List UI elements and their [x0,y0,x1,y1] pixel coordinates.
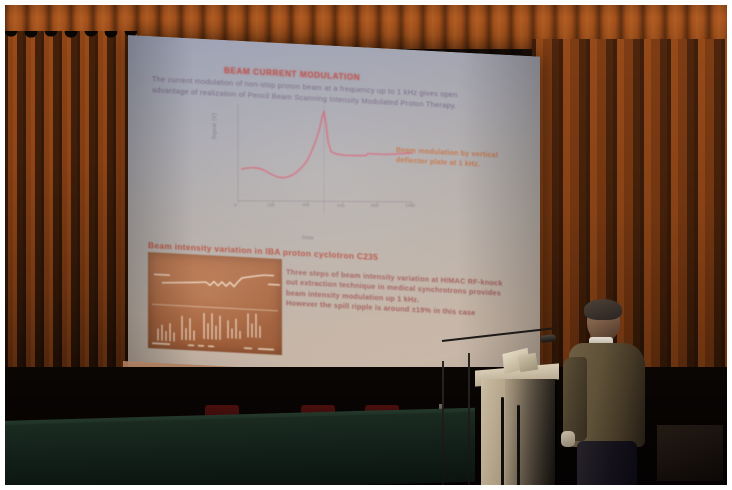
audio-cable [501,397,504,485]
chart-xlabel: time [302,235,314,242]
chart-xtick-2: 400 [302,202,310,207]
scope-glow [148,252,282,355]
chart-xtick-0: 0 [234,203,237,208]
chart-xtick-4: 800 [371,203,379,208]
audio-cable [517,405,520,485]
chart-xtick-5: 1000 [405,203,415,209]
chart-ylabel: Signal (V) [212,113,218,140]
chart-xtick-1: 200 [267,202,275,207]
screenshot-root: BEAM CURRENT MODULATION The current modu… [0,0,732,490]
oscilloscope-photo [148,252,282,355]
slide-body-text: Three steps of beam intensity variation … [286,267,516,321]
presenter-hand [561,431,575,447]
presenter-arm [563,357,587,441]
presenter-trousers [577,441,637,485]
chart-xtick-3: 600 [337,203,345,208]
presenter-hair [584,299,622,320]
lectern-shadow [505,379,557,485]
presenter [565,301,655,485]
beam-current-chart: Signal (V) time 0 200 400 600 800 1000 [216,96,426,237]
stage-speaker-box [657,425,723,481]
stage-curtain-left [5,31,137,403]
slide-content: BEAM CURRENT MODULATION The current modu… [128,35,540,402]
microphone-stand [442,361,444,485]
auditorium-scene: BEAM CURRENT MODULATION The current modu… [5,5,727,485]
presentation-papers [518,353,538,373]
conference-table-cloth [5,412,475,485]
projection-screen: BEAM CURRENT MODULATION The current modu… [128,35,540,402]
chart-svg [216,96,426,237]
microphone-stand [468,353,470,485]
